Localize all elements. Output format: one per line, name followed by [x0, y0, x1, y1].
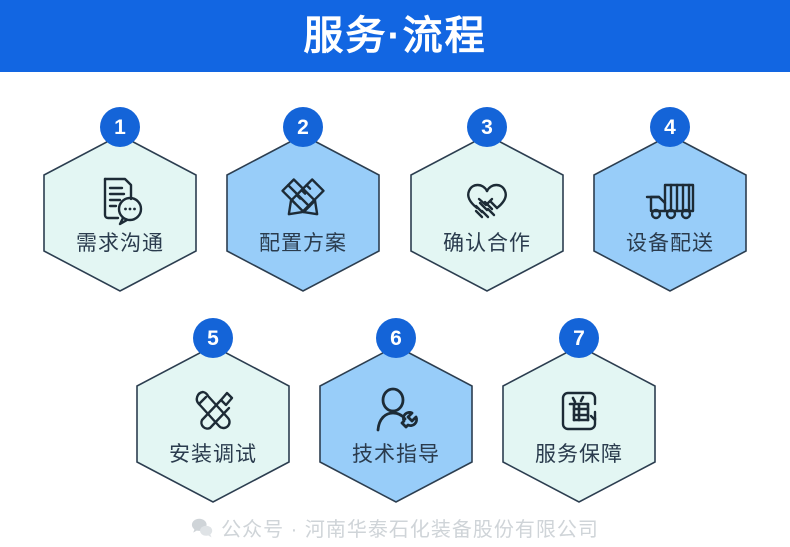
wechat-icon — [191, 517, 213, 539]
page-title: 服务·流程 — [303, 16, 486, 56]
flow-step-label: 需求沟通 — [76, 233, 164, 254]
after-sales-icon — [552, 384, 606, 438]
handshake-heart-icon — [460, 173, 514, 227]
flow-step-label: 确认合作 — [443, 233, 531, 254]
flow-step-label: 技术指导 — [352, 444, 440, 465]
pencil-ruler-icon — [276, 173, 330, 227]
document-chat-icon — [93, 173, 147, 227]
flow-step-5[interactable]: 安装调试 5 — [135, 318, 291, 504]
flow-step-label: 配置方案 — [259, 233, 347, 254]
person-wrench-icon — [369, 384, 423, 438]
flow-step-3[interactable]: 确认合作 3 — [409, 107, 565, 293]
flow-step-6[interactable]: 技术指导 6 — [318, 318, 474, 504]
service-flow-diagram: 需求沟通 1 配置方案 — [0, 72, 790, 509]
flow-step-label: 安装调试 — [169, 444, 257, 465]
flow-step-4[interactable]: 设备配送 4 — [592, 107, 748, 293]
step-number-badge: 7 — [559, 318, 599, 358]
flow-step-7[interactable]: 服务保障 7 — [501, 318, 657, 504]
footer-text: 公众号 · 河南华泰石化装备股份有限公司 — [221, 513, 599, 542]
header-bar: 服务·流程 — [0, 0, 790, 72]
footer-watermark: 公众号 · 河南华泰石化装备股份有限公司 — [0, 508, 790, 547]
step-number-badge: 5 — [193, 318, 233, 358]
step-number-badge: 4 — [650, 107, 690, 147]
step-number-badge: 1 — [100, 107, 140, 147]
delivery-truck-icon — [643, 173, 697, 227]
flow-step-2[interactable]: 配置方案 2 — [225, 107, 381, 293]
step-number-badge: 2 — [283, 107, 323, 147]
step-number-badge: 3 — [467, 107, 507, 147]
step-number-badge: 6 — [376, 318, 416, 358]
flow-step-label: 服务保障 — [535, 444, 623, 465]
flow-step-label: 设备配送 — [626, 233, 714, 254]
wrench-screwdriver-icon — [186, 384, 240, 438]
flow-step-1[interactable]: 需求沟通 1 — [42, 107, 198, 293]
